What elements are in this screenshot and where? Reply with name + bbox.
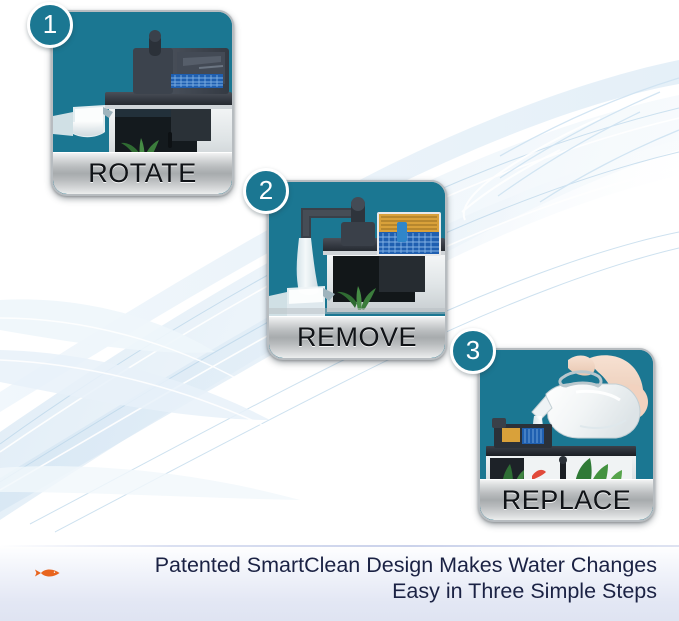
step-label-replace: REPLACE <box>502 485 632 516</box>
step-badge-2: 2 <box>243 168 289 214</box>
infographic-canvas: ROTATE 1 <box>0 0 679 621</box>
step-badge-1: 1 <box>27 2 73 48</box>
caption: Patented SmartClean Design Makes Water C… <box>0 552 679 604</box>
step-badge-2-number: 2 <box>259 177 273 203</box>
step-panel-rotate[interactable]: ROTATE <box>51 10 234 196</box>
step-label-band-replace: REPLACE <box>480 479 653 520</box>
step-label-remove: REMOVE <box>297 322 417 353</box>
step-badge-3-number: 3 <box>466 337 480 363</box>
step-badge-3: 3 <box>450 328 496 374</box>
caption-line-2: Easy in Three Simple Steps <box>155 578 657 604</box>
step-panel-remove[interactable]: REMOVE <box>267 180 447 360</box>
step-label-band-rotate: ROTATE <box>53 152 232 194</box>
caption-line-1: Patented SmartClean Design Makes Water C… <box>155 552 657 578</box>
step-badge-1-number: 1 <box>43 11 57 37</box>
fish-icon <box>34 566 60 578</box>
caption-divider <box>0 545 679 547</box>
step-label-band-remove: REMOVE <box>269 316 445 358</box>
step-panel-replace[interactable]: REPLACE <box>478 348 655 522</box>
step-label-rotate: ROTATE <box>88 158 197 189</box>
